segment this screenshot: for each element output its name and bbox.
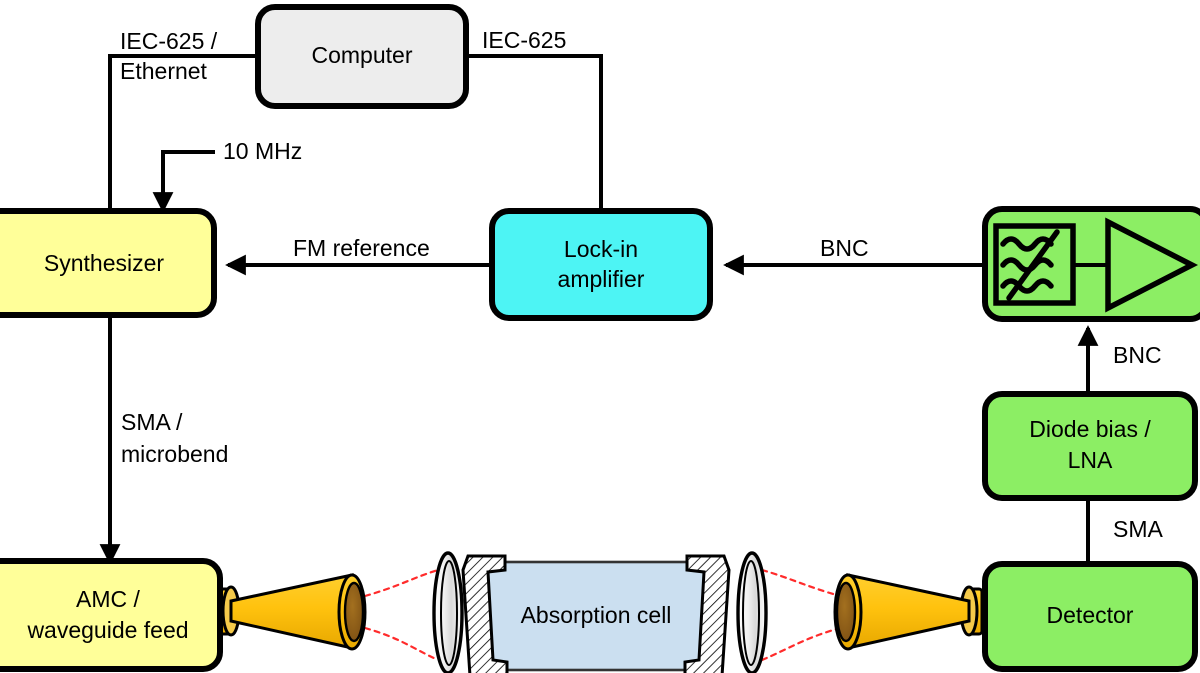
block-lockin-line2: amplifier [558,266,645,292]
horn-antenna-icon-left [218,575,365,649]
label-lockin-to-synth: FM reference [293,235,430,261]
block-diodebias-line1: Diode bias / [1029,416,1151,442]
wire-reference-clock [163,152,215,210]
block-detector[interactable]: Detector [985,564,1195,669]
block-lockin-line1: Lock-in [564,236,638,262]
spectrometer-block-diagram: Absorption cell Computer Synthesizer Loc… [0,0,1200,673]
label-synth-to-amc-line2: microbend [121,441,228,467]
absorption-cell: Absorption cell [463,556,729,673]
block-computer[interactable]: Computer [258,7,466,106]
label-filteramp-to-lockin: BNC [820,235,869,261]
absorption-cell-label: Absorption cell [521,602,672,628]
label-reference-clock: 10 MHz [223,138,302,164]
label-computer-to-synth-line2: Ethernet [120,58,208,84]
block-computer-label: Computer [312,42,413,68]
label-detector-to-diodebias: SMA [1113,516,1164,542]
horn-antenna-icon-right [835,575,982,649]
label-diodebias-to-filteramp: BNC [1113,342,1162,368]
block-amc-line1: AMC / [76,586,141,612]
lens-icon-left [434,553,462,673]
block-filter-amplifier[interactable] [985,209,1200,319]
beam-path-left [365,570,438,660]
label-computer-to-lockin: IEC-625 [482,27,566,53]
block-diodebias-line2: LNA [1068,447,1113,473]
block-amc-line2: waveguide feed [26,617,188,643]
block-amc-waveguide-feed[interactable]: AMC / waveguide feed [0,561,220,669]
block-diode-bias-lna[interactable]: Diode bias / LNA [985,394,1195,498]
block-synthesizer-label: Synthesizer [44,250,165,276]
beam-path-right [762,570,840,660]
wire-computer-to-lockin [466,56,601,215]
block-lockin-amplifier[interactable]: Lock-in amplifier [492,211,710,318]
lens-icon-right [738,553,766,673]
block-synthesizer[interactable]: Synthesizer [0,211,214,315]
block-detector-label: Detector [1047,602,1134,628]
label-computer-to-synth-line1: IEC-625 / [120,28,218,54]
label-synth-to-amc-line1: SMA / [121,409,183,435]
